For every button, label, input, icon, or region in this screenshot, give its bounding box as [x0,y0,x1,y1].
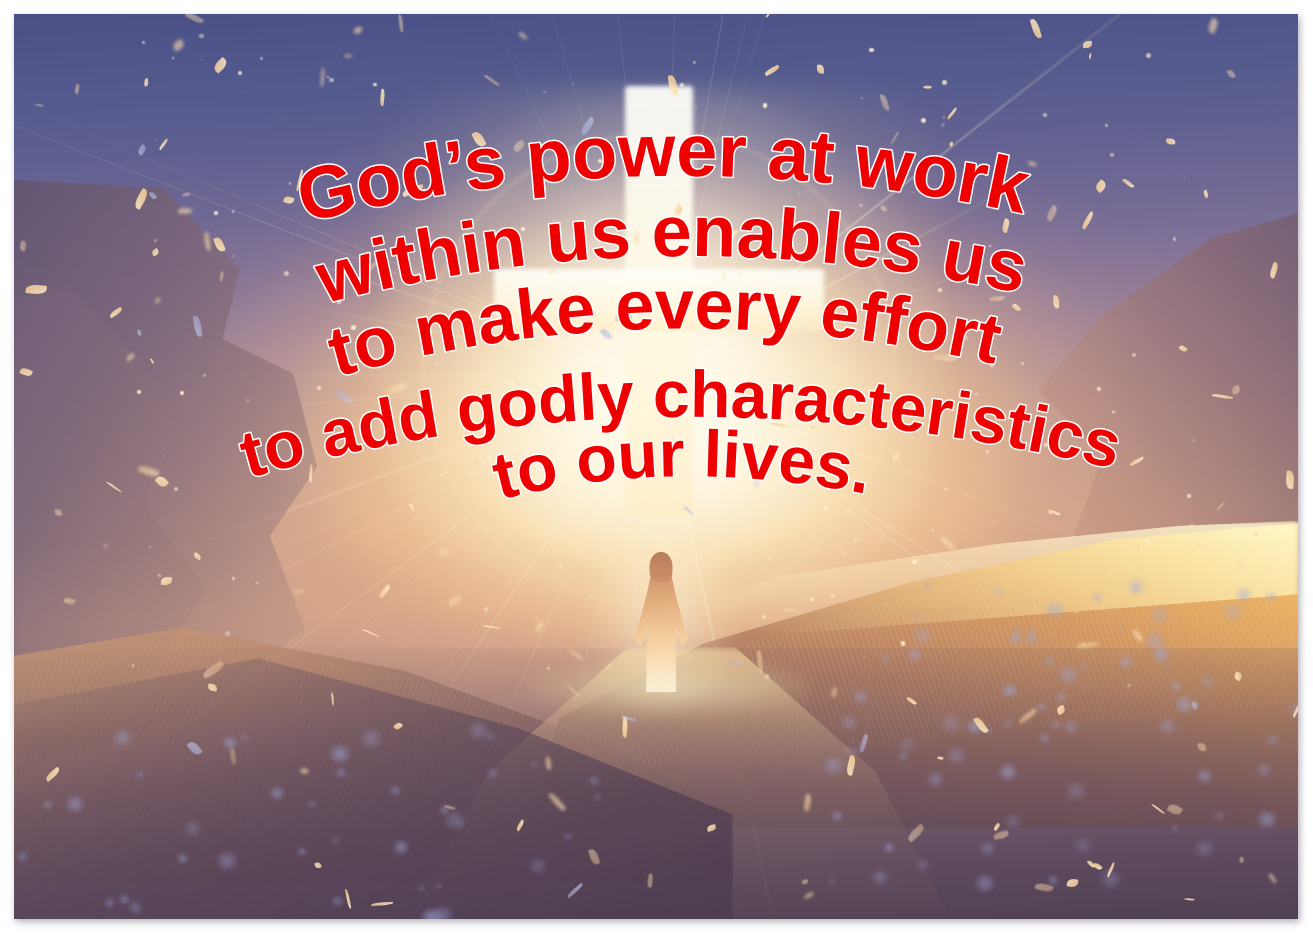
sparkle-mote [337,551,339,553]
sparkle-mote [798,193,800,195]
sparkle-mote [524,677,525,678]
sparkle-mote [695,106,697,108]
sparkle-mote [859,204,862,207]
sparkle-mote [1184,176,1185,177]
sparkle-mote [149,546,151,548]
sparkle-mote [964,331,967,334]
sparkle-mote [232,577,235,580]
sparkle-mote [232,255,234,257]
sparkle-mote [484,607,488,611]
sparkle-mote [938,288,942,292]
sparkle-mote [765,674,769,678]
sparkle-mote [693,443,697,447]
sparkle-mote [769,557,772,560]
sparkle-mote [851,346,854,349]
sparkle-mote [837,511,840,514]
sparkle-mote [1041,546,1043,548]
sparkle-mote [1049,512,1051,514]
sparkle-mote [1043,113,1047,117]
sparkle-mote [948,186,953,191]
sparkle-mote [632,160,637,165]
sparkle-mote [510,382,514,386]
artwork-image: God’s power at work within us enables us… [14,14,1298,919]
sparkle-mote [163,455,165,457]
sparkle-mote [337,300,341,304]
sparkle-mote [819,280,822,283]
sparkle-mote [854,539,857,542]
sparkle-mote [572,83,574,85]
sparkle-mote [1193,439,1195,441]
sparkle-mote [279,119,280,120]
sparkle-mote [942,80,947,85]
sparkle-mote [436,363,438,365]
sparkle-mote [1146,53,1151,58]
sparkle-mote [132,664,135,667]
sparkle-mote [547,667,550,670]
sparkle-mote [357,444,358,445]
sparkle-mote [879,537,882,540]
sparkle-mote [543,91,546,94]
sparkle-mote [284,271,289,276]
sparkle-mote [737,271,742,276]
sparkle-mote [874,301,879,306]
sparkle-mote [838,363,839,364]
sparkle-mote [693,61,697,65]
sparkle-mote [1044,443,1047,446]
sparkle-mote [373,83,377,87]
sparkle-mote [763,103,767,107]
sparkle-mote [199,34,203,38]
sparkle-mote [419,395,424,400]
sparkle-mote [901,641,906,646]
sparkle-mote [990,363,994,367]
sparkle-mote [1110,153,1114,157]
sparkle-mote [1127,684,1131,688]
sparkle-mote [1132,353,1136,357]
sparkle-motes [14,14,1298,919]
sparkle-mote [1131,563,1133,565]
sparkle-mote [156,139,158,141]
sparkle-mote [743,269,745,271]
sparkle-mote [642,290,646,294]
sparkle-mote [912,560,917,565]
sparkle-mote [317,386,321,390]
sparkle-mote [1145,539,1149,543]
sparkle-mote [331,664,333,666]
sparkle-mote [597,382,599,384]
sparkle-mote [232,210,235,213]
sparkle-mote [840,394,843,397]
sparkle-mote [943,116,945,118]
sparkle-mote [521,227,525,231]
sparkle-mote [931,529,934,532]
sparkle-mote [510,580,511,581]
sparkle-mote [523,462,525,464]
sparkle-mote [1189,545,1191,547]
sparkle-mote [559,564,562,567]
sparkle-mote [1082,642,1085,645]
figure-head [650,552,673,582]
sparkle-mote [921,118,926,123]
sparkle-mote [606,460,610,464]
sparkle-mote [256,582,258,584]
sparkle-mote [964,336,968,340]
sparkle-mote [666,408,671,413]
sparkle-mote [431,481,433,483]
sparkle-mote [1075,611,1078,614]
robed-figure [632,552,690,692]
sparkle-mote [1187,494,1191,498]
sparkle-mote [861,97,863,99]
sparkle-mote [598,159,602,163]
sparkle-mote [535,617,538,620]
sparkle-mote [885,433,888,436]
sparkle-mote [718,441,721,444]
sparkle-mote [517,450,520,453]
sparkle-mote [944,488,946,490]
sparkle-mote [869,48,873,52]
sparkle-mote [172,57,174,59]
sparkle-mote [142,41,145,44]
sparkle-mote [247,399,250,402]
sparkle-mote [154,239,157,242]
sparkle-mote [238,71,242,75]
sparkle-mote [180,614,181,615]
sparkle-mote [494,253,497,256]
sparkle-mote [864,656,866,658]
sparkle-mote [203,374,206,377]
sparkle-mote [289,182,291,184]
sparkle-mote [1097,387,1101,391]
sparkle-mote [625,406,629,410]
sparkle-mote [762,242,766,246]
sparkle-mote [986,450,989,453]
sparkle-mote [830,456,833,459]
sparkle-mote [351,325,356,330]
sparkle-mote [200,59,201,60]
sparkle-mote [1191,524,1193,526]
sparkle-mote [810,598,813,601]
sparkle-mote [225,631,230,636]
sparkle-mote [824,507,828,511]
sparkle-mote [975,393,978,396]
sparkle-mote [993,521,994,522]
sparkle-mote [1173,237,1176,240]
sparkle-mote [1000,87,1001,88]
sparkle-mote [539,647,541,649]
sparkle-mote [180,391,184,395]
sparkle-mote [762,615,766,619]
sparkle-mote [163,186,164,187]
sparkle-mote [680,83,684,87]
sparkle-mote [874,504,875,505]
sparkle-mote [137,390,141,394]
sparkle-mote [480,431,481,432]
sparkle-mote [174,487,178,491]
sparkle-mote [582,169,586,173]
sparkle-mote [1112,411,1114,413]
sparkle-mote [941,123,945,127]
sparkle-mote [329,78,333,82]
sparkle-mote [1021,362,1024,365]
sparkle-mote [554,393,557,396]
sparkle-mote [989,245,991,247]
sparkle-mote [214,211,218,215]
sparkle-mote [718,271,720,273]
sparkle-mote [313,436,314,437]
sparkle-mote [260,57,263,60]
poster-frame: God’s power at work within us enables us… [0,0,1313,934]
sparkle-mote [1105,124,1108,127]
sparkle-mote [158,574,161,577]
sparkle-mote [734,290,737,293]
sparkle-mote [913,192,914,193]
sparkle-mote [941,256,942,257]
sparkle-mote [440,474,443,477]
sparkle-mote [890,252,895,257]
sparkle-mote [595,365,600,370]
sparkle-mote [244,91,245,92]
sparkle-mote [873,184,876,187]
sparkle-mote [794,613,796,615]
sparkle-mote [487,456,492,461]
